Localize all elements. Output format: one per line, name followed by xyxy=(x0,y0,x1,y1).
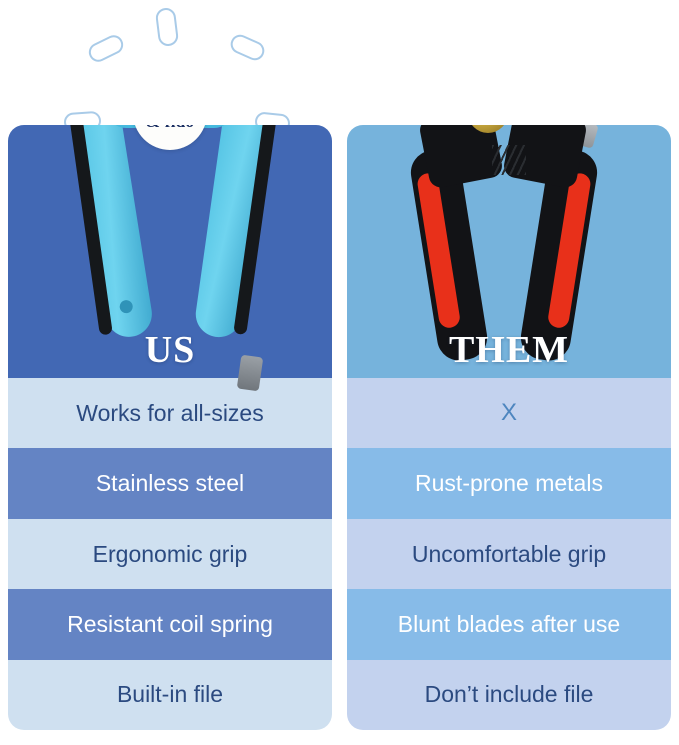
clipper-handle-left xyxy=(73,125,155,340)
comparison-table: fifth & fido US Works for all-sizes Stai… xyxy=(0,0,679,745)
comparison-column-them: THEM X Rust-prone metals Uncomfortable g… xyxy=(347,125,671,730)
feature-row: Stainless steel xyxy=(8,448,332,518)
column-label-us: US xyxy=(8,328,332,372)
clipper-handle-right xyxy=(193,125,271,340)
feature-row: Rust-prone metals xyxy=(347,448,671,518)
column-label-them: THEM xyxy=(347,328,671,372)
product-photo-panel-them: THEM xyxy=(347,125,671,378)
feature-row: Works for all-sizes xyxy=(8,378,332,448)
feature-row: Resistant coil spring xyxy=(8,589,332,659)
feature-row: Built-in file xyxy=(8,660,332,730)
coil-spring-icon xyxy=(492,145,526,175)
product-photo-panel-us: fifth & fido US xyxy=(8,125,332,378)
brand-logo-badge: fifth & fido xyxy=(133,125,207,150)
feature-row: Don’t include file xyxy=(347,660,671,730)
feature-list-them: X Rust-prone metals Uncomfortable grip B… xyxy=(347,378,671,730)
feature-row: Ergonomic grip xyxy=(8,519,332,589)
feature-row: Blunt blades after use xyxy=(347,589,671,659)
comparison-column-us: fifth & fido US Works for all-sizes Stai… xyxy=(8,125,332,730)
brand-name-line-2: & fido xyxy=(146,125,195,130)
feature-row: Uncomfortable grip xyxy=(347,519,671,589)
feature-list-us: Works for all-sizes Stainless steel Ergo… xyxy=(8,378,332,730)
feature-row: X xyxy=(347,378,671,448)
